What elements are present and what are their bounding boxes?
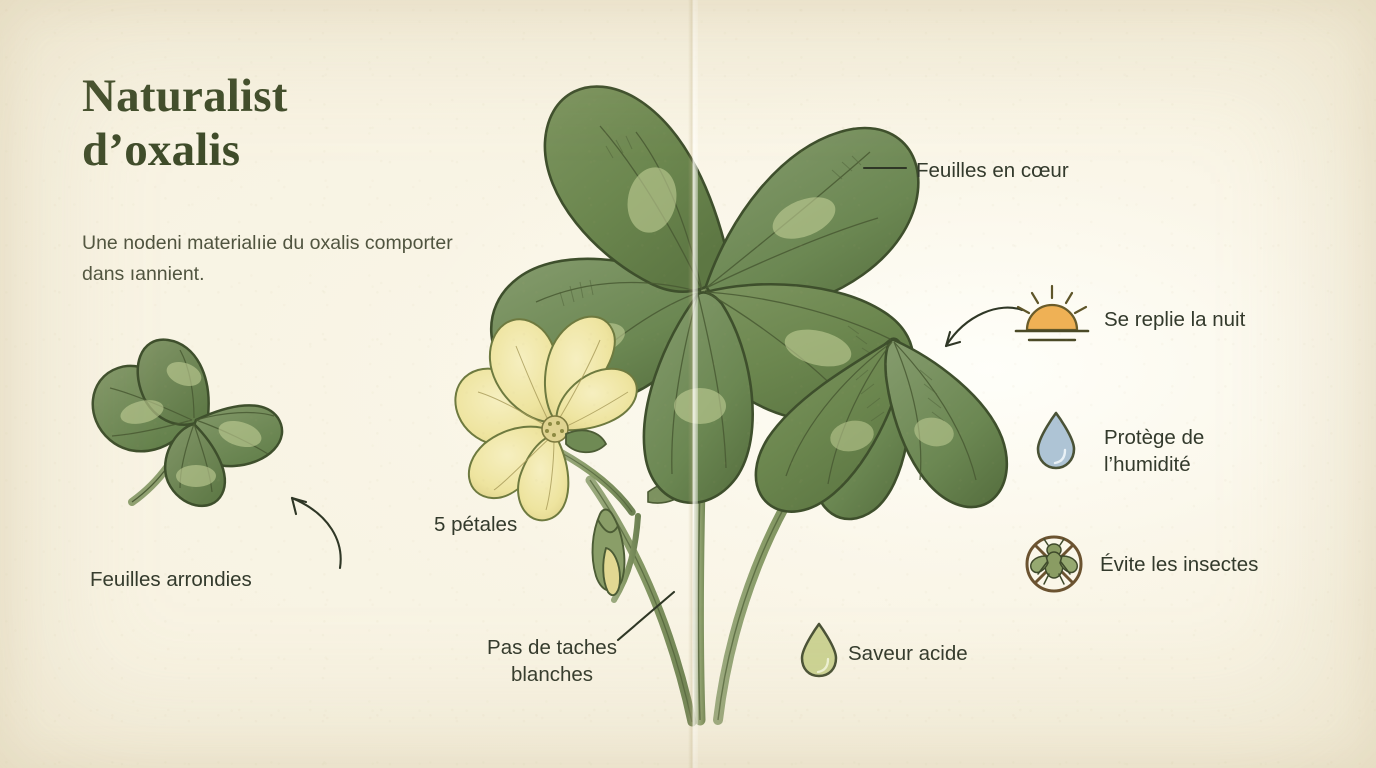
detail-leaf-veins [110,350,274,492]
folded-night-leaf [756,339,1007,519]
no-fly-icon [1022,532,1086,596]
detail-leaf-stem [132,422,190,502]
infographic-page: Naturalist d’oxalis Une nodeni materialı… [0,0,1376,768]
label-feuilles-en-coeur: Feuilles en cœur [916,157,1069,184]
page-subtitle: Une nodeni materialıie du oxalis comport… [82,228,482,290]
flower-petal-veins [478,340,628,510]
sunrise-icon [1010,284,1094,346]
detail-rounded-leaf-illustration [72,336,352,556]
page-title-line1: Naturalist [82,70,502,124]
page-title-line2: d’oxalis [82,124,502,178]
folded-leaf-highlights [827,414,956,455]
stem-bract [648,479,692,503]
acid-droplet-icon [796,621,842,679]
curved-arrow-to-folded-leaf [928,300,1024,364]
flower-calyx [566,430,606,452]
flower-bud [593,510,625,596]
flower-center [542,416,568,442]
label-5-petales: 5 pétales [434,511,517,538]
folded-leaf-veins [786,342,976,484]
detail-leaf-lobes [93,340,282,506]
main-trifoliate-leaf [491,78,918,503]
label-protege-humidite: Protège de l’humidité [1104,424,1204,478]
label-se-replie-la-nuit: Se replie la nuit [1104,306,1245,333]
fly-glyph [1031,539,1077,584]
detail-leaf-highlights [118,358,264,487]
curved-arrow-to-detail-leaf [268,484,358,570]
main-leaf-veins [536,126,892,474]
label-feuilles-arrondies: Feuilles arrondies [90,566,252,593]
label-evite-les-insectes: Évite les insectes [1100,551,1258,578]
page-fold-line [688,0,698,768]
label-pas-de-taches-blanches: Pas de taches blanches [466,634,638,688]
label-saveur-acide: Saveur acide [848,640,968,667]
main-leaf-hatching [560,136,873,355]
water-droplet-icon [1032,410,1080,472]
five-petal-yellow-flower [455,317,636,521]
main-leaf-highlights [563,163,855,424]
dash-leader-feuilles-coeur [862,164,908,172]
page-title: Naturalist d’oxalis [82,70,502,177]
folded-leaf-hatching [856,370,944,421]
flower-stamens [545,421,564,437]
